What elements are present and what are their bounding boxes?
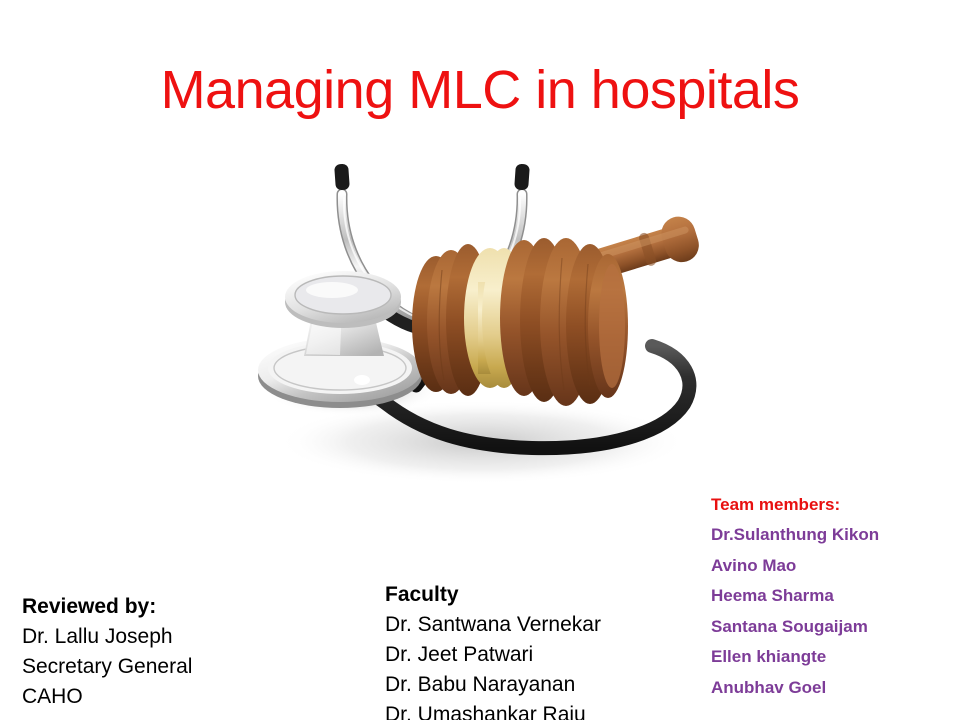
- team-members-block: Team members: Dr.Sulanthung Kikon Avino …: [711, 490, 879, 703]
- faculty-block: Faculty Dr. Santwana Vernekar Dr. Jeet P…: [385, 580, 601, 720]
- reviewed-by-line-2: Secretary General: [22, 652, 192, 682]
- team-member-6: Anubhav Goel: [711, 673, 879, 704]
- reviewed-by-line-3: CAHO: [22, 682, 192, 712]
- faculty-line-1: Dr. Santwana Vernekar: [385, 610, 601, 640]
- faculty-line-4: Dr. Umashankar Raju: [385, 700, 601, 720]
- team-member-3: Heema Sharma: [711, 581, 879, 612]
- reviewed-by-block: Reviewed by: Dr. Lallu Joseph Secretary …: [22, 592, 192, 712]
- ear-tip-left: [334, 164, 350, 191]
- team-member-5: Ellen khiangte: [711, 642, 879, 673]
- slide-title: Managing MLC in hospitals: [0, 62, 960, 119]
- team-member-4: Santana Sougaijam: [711, 612, 879, 643]
- ear-tip-right: [514, 164, 530, 191]
- faculty-line-3: Dr. Babu Narayanan: [385, 670, 601, 700]
- faculty-line-2: Dr. Jeet Patwari: [385, 640, 601, 670]
- team-members-heading: Team members:: [711, 490, 879, 520]
- gavel-head: [412, 238, 628, 406]
- stethoscope-gavel-image: [232, 142, 710, 482]
- reviewed-by-heading: Reviewed by:: [22, 592, 192, 622]
- faculty-heading: Faculty: [385, 580, 601, 610]
- gavel: [412, 212, 703, 406]
- team-member-2: Avino Mao: [711, 551, 879, 582]
- stethoscope-chestpiece: [258, 271, 422, 408]
- presentation-slide: Managing MLC in hospitals: [0, 0, 960, 720]
- team-member-1: Dr.Sulanthung Kikon: [711, 520, 879, 551]
- reviewed-by-line-1: Dr. Lallu Joseph: [22, 622, 192, 652]
